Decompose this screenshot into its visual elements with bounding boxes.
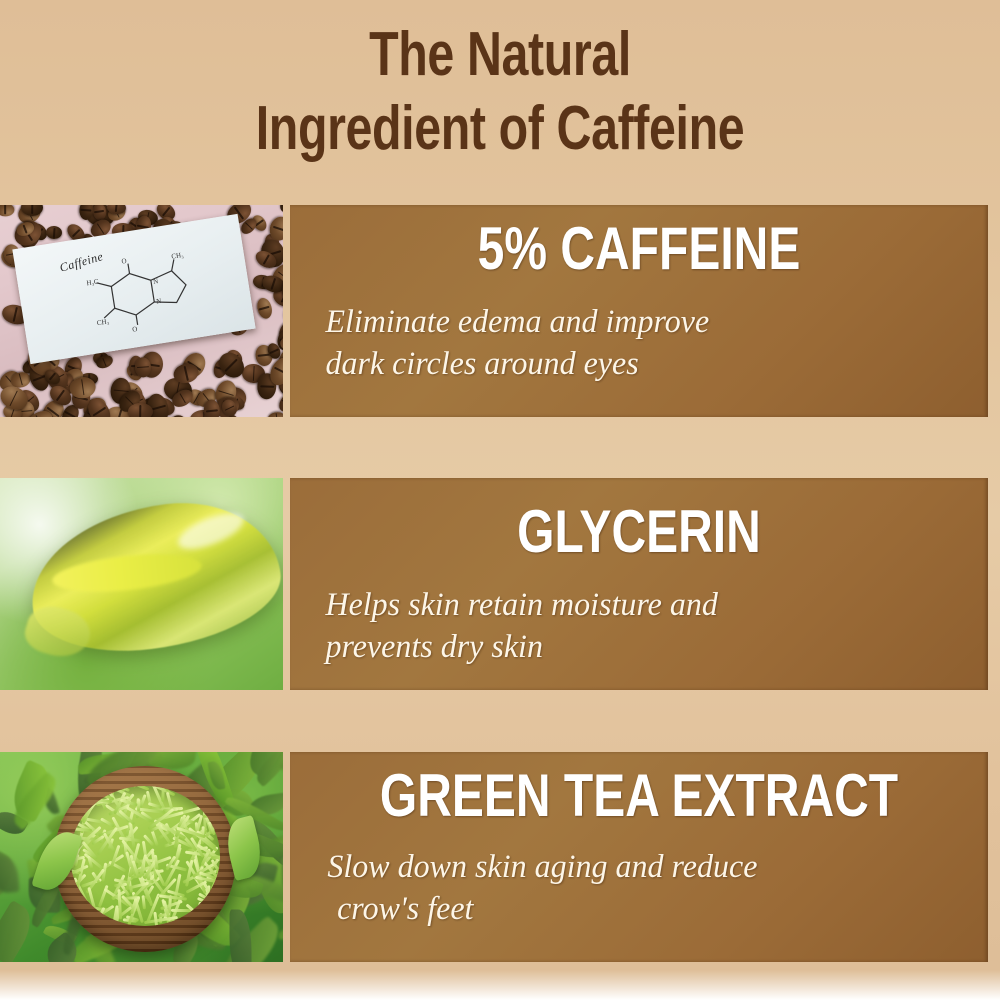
page-title: The Natural Ingredient of Caffeine [0, 18, 1000, 166]
ingredient-panel-glycerin: GLYCERIN Helps skin retain moisture and … [290, 478, 988, 690]
ingredient-heading-green-tea: GREEN TEA EXTRACT [374, 766, 904, 826]
page-title-line-2: Ingredient of Caffeine [110, 92, 890, 166]
ingredient-heading-caffeine: 5% CAFFEINE [374, 219, 904, 279]
ingredient-heading-glycerin: GLYCERIN [374, 502, 904, 562]
svg-text:O: O [132, 325, 138, 334]
ingredient-description-caffeine: Eliminate edema and improve dark circles… [308, 301, 950, 385]
svg-text:O: O [121, 257, 127, 266]
svg-text:N: N [156, 297, 162, 306]
page-title-line-1: The Natural [110, 18, 890, 92]
coffee-beans-illustration: Caffeine O H₃C [0, 205, 283, 417]
ingredient-row-glycerin: GLYCERIN Helps skin retain moisture and … [0, 478, 988, 690]
ingredient-description-caffeine-line-1: Eliminate edema and improve [325, 301, 950, 343]
ingredient-row-green-tea: GREEN TEA EXTRACT Slow down skin aging a… [0, 752, 988, 962]
infographic-page: The Natural Ingredient of Caffeine Caffe… [0, 0, 1000, 1000]
svg-text:H₃C: H₃C [86, 277, 100, 287]
ingredient-description-green-tea: Slow down skin aging and reduce crow's f… [308, 846, 950, 930]
ingredient-image-green-tea [0, 752, 283, 962]
ingredient-description-green-tea-line-2: crow's feet [327, 888, 950, 930]
svg-text:CH₃: CH₃ [171, 251, 185, 261]
ingredient-panel-green-tea: GREEN TEA EXTRACT Slow down skin aging a… [290, 752, 988, 962]
ingredient-description-glycerin-line-2: prevents dry skin [325, 626, 950, 668]
ingredient-description-green-tea-line-1: Slow down skin aging and reduce [327, 846, 950, 888]
tea-leaves-in-basket [70, 786, 220, 926]
ingredient-description-glycerin: Helps skin retain moisture and prevents … [308, 584, 950, 668]
ingredient-description-glycerin-line-1: Helps skin retain moisture and [325, 584, 950, 626]
glycerin-droplet-illustration [0, 478, 283, 690]
ingredient-image-glycerin [0, 478, 283, 690]
svg-text:N: N [153, 277, 159, 286]
ingredient-panel-caffeine: 5% CAFFEINE Eliminate edema and improve … [290, 205, 988, 417]
ingredient-image-caffeine: Caffeine O H₃C [0, 205, 283, 417]
ingredient-row-caffeine: Caffeine O H₃C [0, 205, 988, 417]
green-tea-basket-illustration [0, 752, 283, 962]
tea-basket [54, 766, 236, 952]
svg-text:CH₃: CH₃ [96, 317, 110, 327]
ingredient-description-caffeine-line-2: dark circles around eyes [325, 343, 950, 385]
